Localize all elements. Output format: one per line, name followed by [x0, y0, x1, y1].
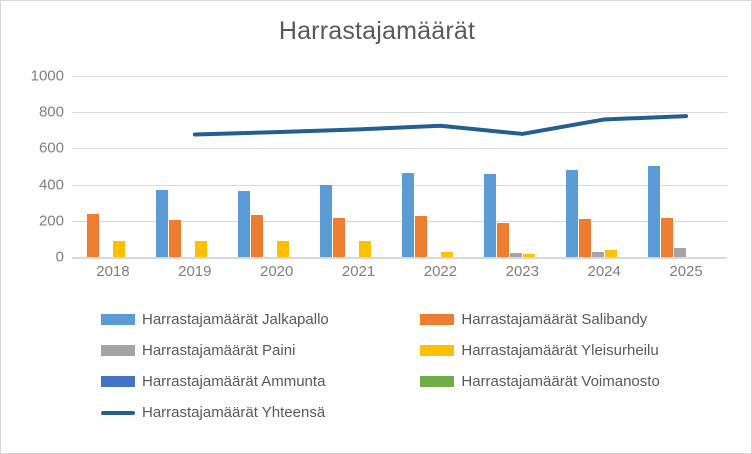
legend-item-label: Harrastajamäärät Yhteensä — [142, 404, 325, 421]
bar[interactable] — [415, 216, 427, 257]
legend-item[interactable]: Harrastajamäärät Voimanosto — [420, 373, 701, 390]
x-tick-label: 2025 — [645, 263, 727, 287]
bar[interactable] — [441, 252, 453, 257]
legend-color-swatch-icon — [101, 345, 135, 356]
legend-item[interactable]: Harrastajamäärät Salibandy — [420, 311, 701, 328]
bar[interactable] — [333, 218, 345, 257]
x-tick-label: 2021 — [318, 263, 400, 287]
legend-item-label: Harrastajamäärät Ammunta — [142, 373, 325, 390]
x-tick-label: 2020 — [236, 263, 318, 287]
legend-item[interactable]: Harrastajamäärät Jalkapallo — [101, 311, 420, 328]
legend-item[interactable]: Harrastajamäärät Yhteensä — [101, 404, 431, 421]
bar[interactable] — [113, 241, 125, 257]
legend-color-swatch-icon — [101, 376, 135, 387]
y-axis: 02004006008001000 — [1, 76, 64, 258]
bar-group — [400, 76, 482, 257]
legend-row: Harrastajamäärät AmmuntaHarrastajamäärät… — [101, 366, 701, 397]
legend-color-swatch-icon — [420, 345, 454, 356]
bar[interactable] — [484, 174, 496, 257]
bar[interactable] — [523, 254, 535, 257]
bar-group — [236, 76, 318, 257]
legend-item-label: Harrastajamäärät Voimanosto — [461, 373, 659, 390]
y-tick-label: 200 — [1, 212, 64, 229]
axis-baseline — [72, 257, 727, 259]
legend-item-label: Harrastajamäärät Salibandy — [461, 311, 647, 328]
bar[interactable] — [592, 252, 604, 257]
legend-item-label: Harrastajamäärät Yleisurheilu — [461, 342, 658, 359]
legend-line-swatch-icon — [101, 411, 135, 415]
bar[interactable] — [566, 170, 578, 257]
bar-series-layer — [72, 76, 727, 257]
chart-legend: Harrastajamäärät JalkapalloHarrastajamää… — [101, 304, 701, 428]
x-tick-label: 2019 — [154, 263, 236, 287]
bar-group — [481, 76, 563, 257]
legend-row: Harrastajamäärät JalkapalloHarrastajamää… — [101, 304, 701, 335]
legend-item[interactable]: Harrastajamäärät Yleisurheilu — [420, 342, 701, 359]
bar[interactable] — [402, 173, 414, 257]
bar[interactable] — [359, 241, 371, 257]
y-tick-label: 1000 — [1, 68, 64, 85]
y-tick-label: 400 — [1, 176, 64, 193]
y-tick-label: 0 — [1, 249, 64, 266]
bar[interactable] — [156, 190, 168, 258]
bar[interactable] — [277, 241, 289, 257]
y-tick-label: 800 — [1, 104, 64, 121]
x-tick-label: 2022 — [400, 263, 482, 287]
bar[interactable] — [87, 214, 99, 257]
bar[interactable] — [251, 215, 263, 257]
legend-color-swatch-icon — [101, 314, 135, 325]
x-tick-label: 2024 — [563, 263, 645, 287]
bar-group — [154, 76, 236, 257]
legend-row: Harrastajamäärät Yhteensä — [101, 397, 701, 428]
bar[interactable] — [579, 219, 591, 257]
legend-item-label: Harrastajamäärät Jalkapallo — [142, 311, 329, 328]
bar[interactable] — [510, 253, 522, 257]
legend-color-swatch-icon — [420, 314, 454, 325]
legend-color-swatch-icon — [420, 376, 454, 387]
bar-group — [645, 76, 727, 257]
bar-group — [563, 76, 645, 257]
x-tick-label: 2018 — [72, 263, 154, 287]
chart-title: Harrastajamäärät — [1, 17, 752, 46]
chart-card: Harrastajamäärät 02004006008001000 20182… — [0, 0, 752, 454]
bar[interactable] — [169, 220, 181, 257]
bar[interactable] — [661, 218, 673, 257]
bar[interactable] — [648, 166, 660, 257]
x-axis: 20182019202020212022202320242025 — [72, 263, 727, 287]
bar[interactable] — [497, 223, 509, 257]
bar-group — [72, 76, 154, 257]
x-tick-label: 2023 — [481, 263, 563, 287]
bar[interactable] — [320, 185, 332, 257]
bar[interactable] — [195, 241, 207, 257]
bar[interactable] — [605, 250, 617, 257]
y-tick-label: 600 — [1, 140, 64, 157]
legend-row: Harrastajamäärät PainiHarrastajamäärät Y… — [101, 335, 701, 366]
legend-item[interactable]: Harrastajamäärät Ammunta — [101, 373, 420, 390]
legend-item-label: Harrastajamäärät Paini — [142, 342, 295, 359]
legend-item[interactable]: Harrastajamäärät Paini — [101, 342, 420, 359]
bar-group — [318, 76, 400, 257]
bar[interactable] — [238, 191, 250, 257]
bar[interactable] — [674, 248, 686, 257]
